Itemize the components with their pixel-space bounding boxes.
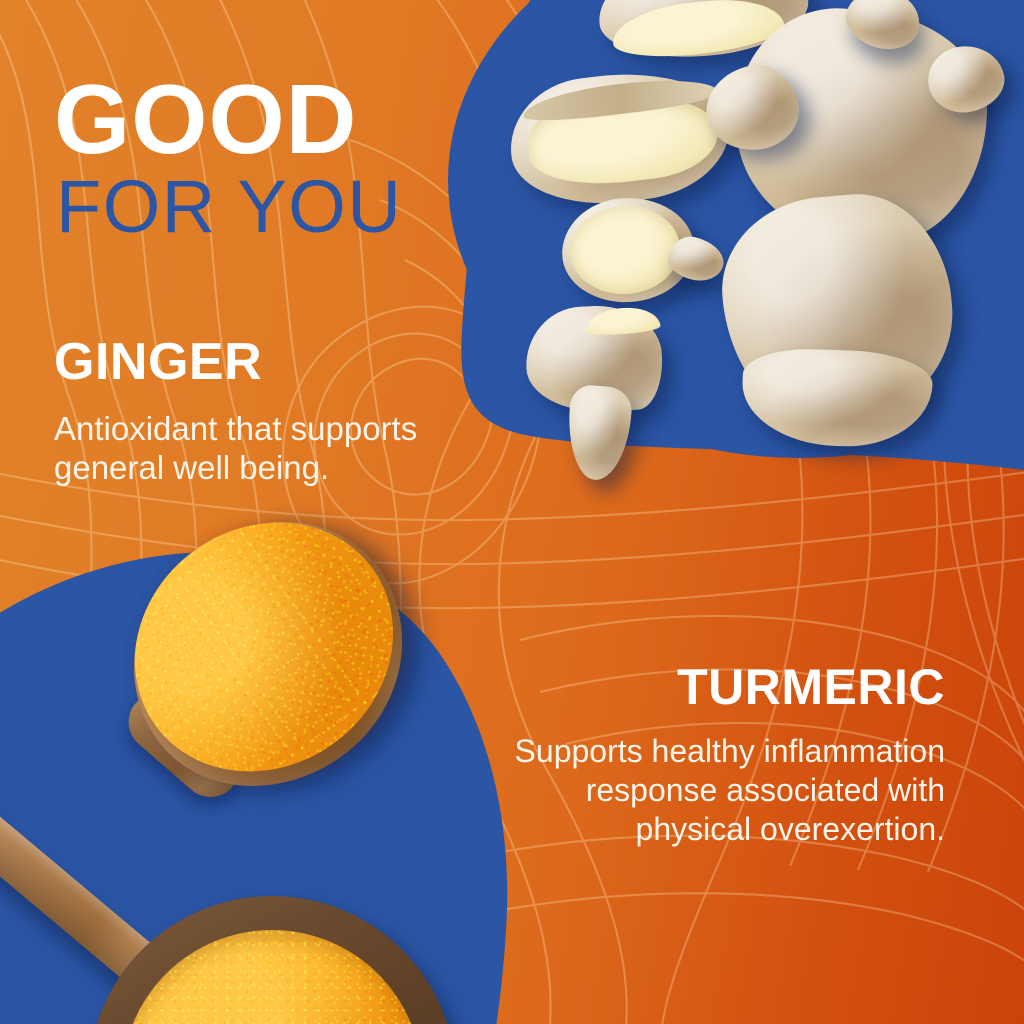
ginger-knob-lower-cut	[585, 305, 661, 336]
ingredient-title-turmeric: TURMERIC	[430, 662, 945, 712]
ingredient-body-line: Antioxidant that supports	[54, 410, 554, 449]
ginger-rhizome-nub-right	[922, 39, 1010, 119]
good-for-you-poster: GOOD FOR YOU GINGER Antioxidant that sup…	[0, 0, 1024, 1024]
ginger-chunk-sliced-flesh	[524, 89, 723, 194]
headline-secondary: FOR YOU	[56, 169, 524, 244]
ginger-rhizome-foot	[740, 347, 933, 450]
ginger-coin-skin	[559, 194, 698, 307]
ginger-slice-top-flesh	[610, 0, 786, 63]
ginger-chunk-skin-edge	[521, 72, 719, 126]
headline-primary: GOOD	[54, 74, 524, 165]
ginger-rhizome-arm-left	[699, 59, 804, 158]
ginger-knob-lower-stem	[565, 384, 633, 482]
ginger-chunk-sliced	[503, 61, 737, 215]
ginger-coin-tail	[664, 232, 728, 286]
bowl-powder-grain-texture	[122, 930, 422, 1024]
ingredient-block-ginger: GINGER Antioxidant that supports general…	[54, 336, 554, 487]
ginger-coin-flesh	[567, 202, 683, 297]
turmeric-powder-on-spoon	[86, 472, 443, 822]
ingredient-title-ginger: GINGER	[54, 336, 554, 388]
headline-block: GOOD FOR YOU	[54, 74, 524, 245]
ginger-rhizome-lower	[714, 186, 961, 433]
wooden-spoon-bowl	[81, 470, 456, 838]
ingredient-block-turmeric: TURMERIC Supports healthy inflammation r…	[430, 662, 945, 849]
ingredient-body-line: general well being.	[54, 449, 554, 488]
ingredient-body-line: Supports healthy inflammation	[430, 732, 945, 771]
turmeric-powder-in-bowl	[122, 930, 422, 1024]
ingredient-body-line: response associated with	[430, 771, 945, 810]
wooden-spoon-handle	[0, 795, 205, 1023]
turmeric-bowl	[88, 896, 456, 1024]
ingredient-body-turmeric: Supports healthy inflammation response a…	[430, 732, 945, 849]
ginger-rhizome-main	[728, 2, 993, 249]
ingredient-body-ginger: Antioxidant that supports general well b…	[54, 410, 554, 487]
powder-grain-texture	[86, 472, 443, 822]
ginger-slice-top	[593, 0, 813, 67]
ginger-rhizome-nub-top	[839, 0, 927, 58]
ingredient-body-line: physical overexertion.	[430, 810, 945, 849]
wooden-spoon-neck	[117, 681, 252, 809]
